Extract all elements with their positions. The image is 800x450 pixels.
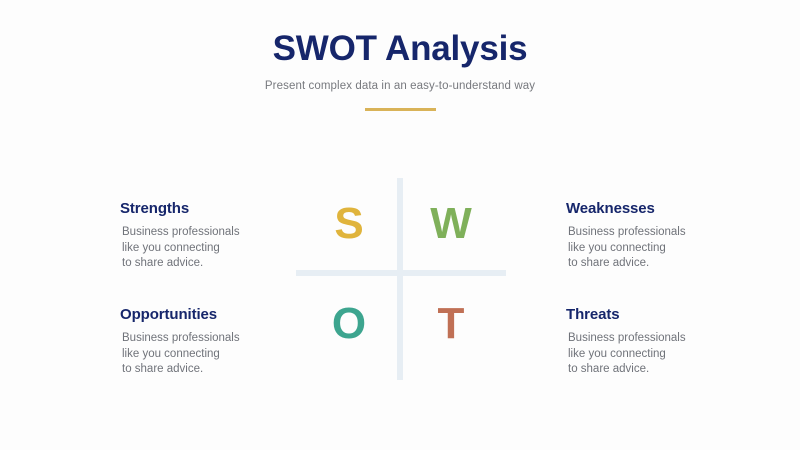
- letter-s-icon: S: [314, 202, 384, 246]
- quadrant-threats: Threats Business professionals like you …: [566, 306, 756, 378]
- quadrant-threats-body: Business professionals like you connecti…: [566, 331, 756, 378]
- cross-vertical-line: [397, 178, 403, 380]
- slide-header: SWOT Analysis Present complex data in an…: [0, 28, 800, 111]
- swot-analysis-slide: SWOT Analysis Present complex data in an…: [0, 0, 800, 450]
- slide-subtitle: Present complex data in an easy-to-under…: [0, 78, 800, 94]
- quadrant-opportunities: Opportunities Business professionals lik…: [120, 306, 310, 378]
- letter-w-icon: W: [416, 202, 486, 246]
- swot-cross-diagram: S W O T: [296, 178, 506, 380]
- quadrant-weaknesses-body: Business professionals like you connecti…: [566, 225, 756, 272]
- quadrant-strengths-heading: Strengths: [120, 200, 310, 218]
- quadrant-weaknesses-heading: Weaknesses: [566, 200, 756, 218]
- letter-t-icon: T: [416, 302, 486, 346]
- quadrant-opportunities-heading: Opportunities: [120, 306, 310, 324]
- quadrant-threats-heading: Threats: [566, 306, 756, 324]
- letter-o-icon: O: [314, 302, 384, 346]
- quadrant-strengths-body: Business professionals like you connecti…: [120, 225, 310, 272]
- quadrant-strengths: Strengths Business professionals like yo…: [120, 200, 310, 272]
- page-title: SWOT Analysis: [0, 28, 800, 70]
- quadrant-opportunities-body: Business professionals like you connecti…: [120, 331, 310, 378]
- quadrant-weaknesses: Weaknesses Business professionals like y…: [566, 200, 756, 272]
- title-divider: [365, 108, 436, 111]
